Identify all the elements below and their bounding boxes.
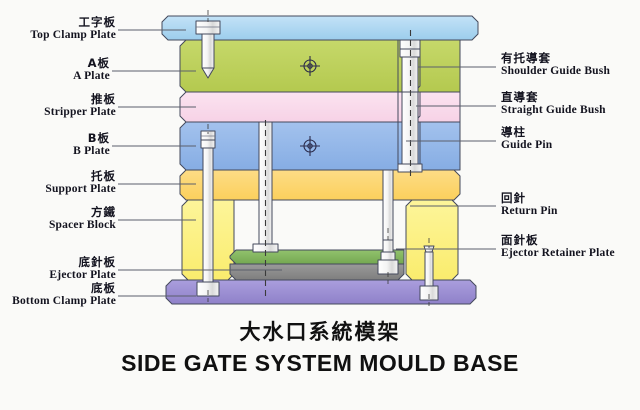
label-stripper-plate-cn: 推板 <box>44 93 116 106</box>
label-straight-guide-bush-en: Straight Guide Bush <box>501 104 606 117</box>
label-guide-pin: 導柱 Guide Pin <box>501 126 552 152</box>
label-ejector-retainer-plate: 面針板 Ejector Retainer Plate <box>501 234 615 260</box>
label-ejector-plate-en: Ejector Plate <box>49 269 116 282</box>
label-top-clamp-plate-cn: 工字板 <box>30 16 116 29</box>
label-b-plate-en: B Plate <box>73 145 110 158</box>
label-guide-pin-en: Guide Pin <box>501 139 552 152</box>
label-ejector-plate-cn: 底針板 <box>49 256 116 269</box>
title-en: SIDE GATE SYSTEM MOULD BASE <box>0 350 640 377</box>
label-bottom-clamp-plate-en: Bottom Clamp Plate <box>12 295 116 308</box>
title-cn: 大水口系統模架 <box>0 316 640 346</box>
label-a-plate-en: A Plate <box>73 70 110 83</box>
label-stripper-plate: 推板 Stripper Plate <box>44 93 116 119</box>
label-spacer-block-cn: 方鐵 <box>49 206 116 219</box>
label-b-plate-cn: B板 <box>73 132 110 145</box>
label-return-pin-en: Return Pin <box>501 205 558 218</box>
label-return-pin-cn: 回針 <box>501 192 558 205</box>
label-spacer-block-en: Spacer Block <box>49 219 116 232</box>
label-shoulder-guide-bush-en: Shoulder Guide Bush <box>501 65 610 78</box>
label-return-pin: 回針 Return Pin <box>501 192 558 218</box>
label-stripper-plate-en: Stripper Plate <box>44 106 116 119</box>
label-shoulder-guide-bush-cn: 有托導套 <box>501 52 610 65</box>
label-straight-guide-bush: 直導套 Straight Guide Bush <box>501 91 606 117</box>
label-spacer-block: 方鐵 Spacer Block <box>49 206 116 232</box>
title-block: 大水口系統模架 SIDE GATE SYSTEM MOULD BASE <box>0 316 640 377</box>
label-a-plate: A板 A Plate <box>73 57 110 83</box>
label-bottom-clamp-plate-cn: 底板 <box>12 282 116 295</box>
label-straight-guide-bush-cn: 直導套 <box>501 91 606 104</box>
mould-base-diagram-page: 工字板 Top Clamp Plate A板 A Plate 推板 Stripp… <box>0 0 640 410</box>
label-top-clamp-plate-en: Top Clamp Plate <box>30 29 116 42</box>
label-top-clamp-plate: 工字板 Top Clamp Plate <box>30 16 116 42</box>
label-ejector-retainer-plate-cn: 面針板 <box>501 234 615 247</box>
label-ejector-retainer-plate-en: Ejector Retainer Plate <box>501 247 615 260</box>
label-b-plate: B板 B Plate <box>73 132 110 158</box>
label-a-plate-cn: A板 <box>73 57 110 70</box>
label-bottom-clamp-plate: 底板 Bottom Clamp Plate <box>12 282 116 308</box>
label-support-plate-en: Support Plate <box>45 183 116 196</box>
label-ejector-plate: 底針板 Ejector Plate <box>49 256 116 282</box>
label-guide-pin-cn: 導柱 <box>501 126 552 139</box>
label-support-plate: 托板 Support Plate <box>45 170 116 196</box>
plate-support <box>180 170 460 200</box>
label-support-plate-cn: 托板 <box>45 170 116 183</box>
label-shoulder-guide-bush: 有托導套 Shoulder Guide Bush <box>501 52 610 78</box>
